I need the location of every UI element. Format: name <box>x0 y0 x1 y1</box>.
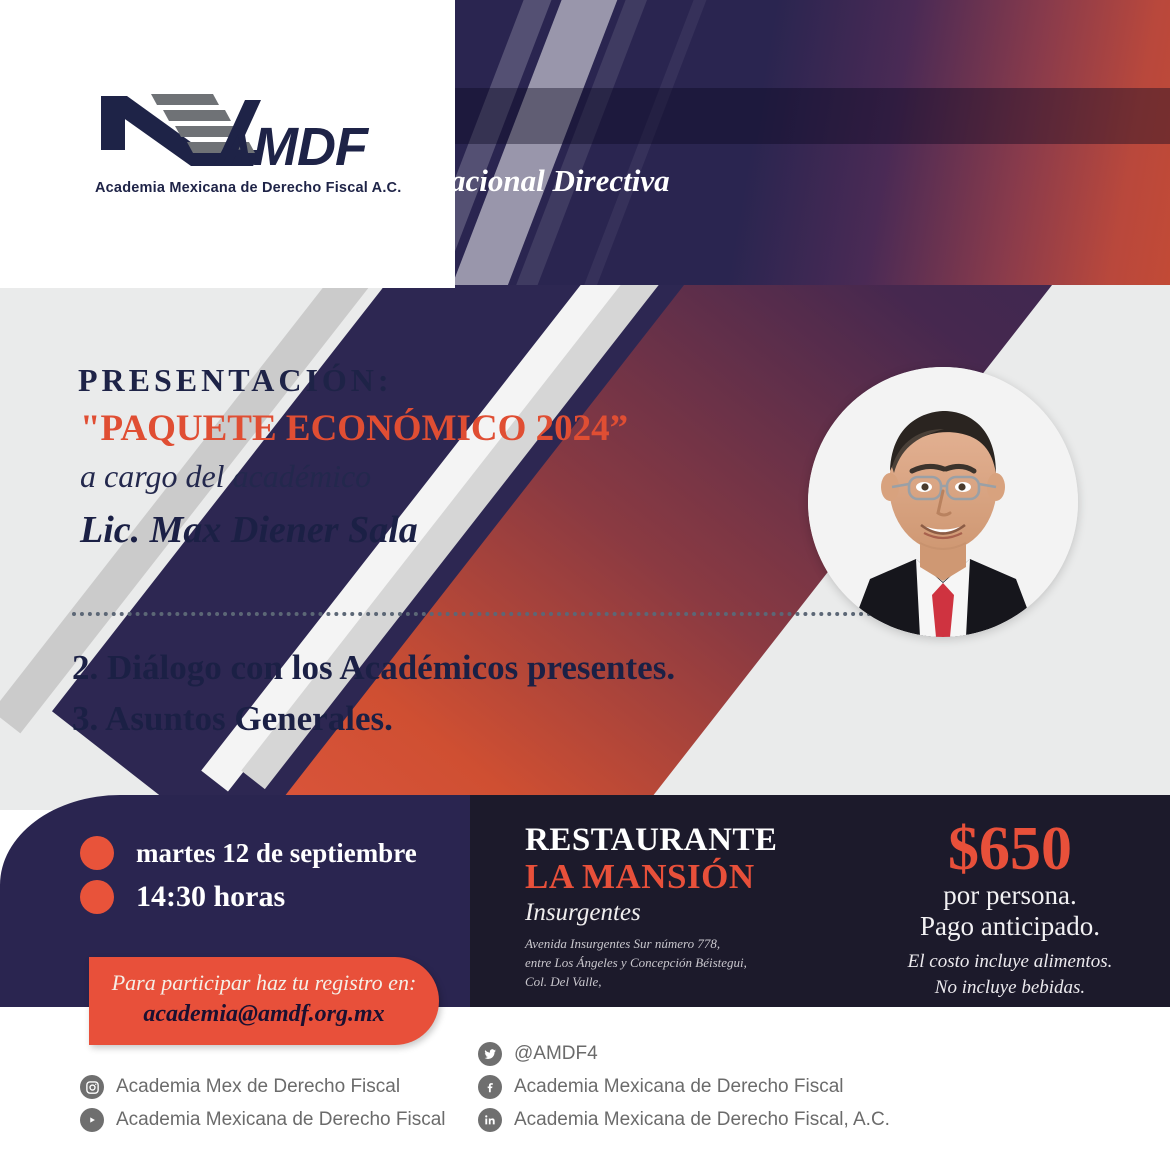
youtube-icon <box>80 1108 104 1132</box>
social-links-left: Academia Mex de Derecho Fiscal Academia … <box>80 1075 446 1141</box>
social-link-linkedin[interactable]: Academia Mexicana de Derecho Fiscal, A.C… <box>478 1108 890 1132</box>
social-link-instagram[interactable]: Academia Mex de Derecho Fiscal <box>80 1075 446 1099</box>
amdf-logo: AMDF Academia Mexicana de Derecho Fiscal… <box>95 88 375 196</box>
section-divider <box>72 612 872 616</box>
price-block: $650 por persona. Pago anticipado. El co… <box>860 818 1160 1000</box>
speaker-name: Lic. Max Diener Sala <box>80 508 418 552</box>
amdf-logo-caption: Academia Mexicana de Derecho Fiscal A.C. <box>95 180 375 196</box>
speaker-portrait <box>808 367 1078 637</box>
price-payment-terms: Pago anticipado. <box>860 911 1160 942</box>
venue-branch: Insurgentes <box>525 899 777 927</box>
venue-type: RESTAURANTE <box>525 822 777 859</box>
event-flyer: SESIÓN TÉCNICA Organizada por la Junta N… <box>0 0 1170 1171</box>
event-date: martes 12 de septiembre <box>136 838 417 869</box>
presentation-label: PRESENTACIÓN: <box>78 362 393 399</box>
registration-email[interactable]: academia@amdf.org.mx <box>89 1001 439 1028</box>
price-note-excludes: No incluye bebidas. <box>860 975 1160 1001</box>
presentation-topic: "PAQUETE ECONÓMICO 2024” <box>80 407 628 450</box>
venue-address-line: Avenida Insurgentes Sur número 778, <box>525 935 777 954</box>
social-handle: Academia Mex de Derecho Fiscal <box>116 1076 400 1098</box>
speaker-photo-illustration <box>808 367 1078 637</box>
event-date-row: martes 12 de septiembre <box>80 836 417 870</box>
agenda-list: 2. Diálogo con los Académicos presentes.… <box>72 648 675 750</box>
instagram-icon <box>80 1075 104 1099</box>
venue-address-line: Col. Del Valle, <box>525 973 777 992</box>
social-handle: @AMDF4 <box>514 1043 598 1065</box>
social-handle: Academia Mexicana de Derecho Fiscal <box>116 1109 446 1131</box>
social-links-right: @AMDF4 Academia Mexicana de Derecho Fisc… <box>478 1042 890 1141</box>
venue-block: RESTAURANTE LA MANSIÓN Insurgentes Aveni… <box>525 822 777 992</box>
venue-name: LA MANSIÓN <box>525 857 777 897</box>
header-banner <box>455 0 1170 285</box>
agenda-item: 2. Diálogo con los Académicos presentes. <box>72 648 675 688</box>
header-title-bar <box>455 88 1170 144</box>
venue-address: Avenida Insurgentes Sur número 778, entr… <box>525 935 777 992</box>
social-link-twitter[interactable]: @AMDF4 <box>478 1042 890 1066</box>
social-handle: Academia Mexicana de Derecho Fiscal, A.C… <box>514 1109 890 1131</box>
price-note-includes: El costo incluye alimentos. <box>860 949 1160 975</box>
bullet-icon <box>80 880 114 914</box>
social-handle: Academia Mexicana de Derecho Fiscal <box>514 1076 844 1098</box>
agenda-item: 3. Asuntos Generales. <box>72 699 675 739</box>
amdf-wordmark: AMDF <box>215 116 367 178</box>
social-link-youtube[interactable]: Academia Mexicana de Derecho Fiscal <box>80 1108 446 1132</box>
twitter-icon <box>478 1042 502 1066</box>
amdf-logo-mark: AMDF <box>95 88 367 176</box>
price-amount: $650 <box>860 818 1160 880</box>
event-time: 14:30 horas <box>136 880 285 914</box>
speaker-prefix: a cargo del académico <box>80 458 371 495</box>
logo-panel: AMDF Academia Mexicana de Derecho Fiscal… <box>0 0 455 288</box>
price-per-person: por persona. <box>860 880 1160 911</box>
registration-cta[interactable]: Para participar haz tu registro en: acad… <box>89 957 439 1045</box>
linkedin-icon <box>478 1108 502 1132</box>
facebook-icon <box>478 1075 502 1099</box>
event-time-row: 14:30 horas <box>80 880 285 914</box>
social-link-facebook[interactable]: Academia Mexicana de Derecho Fiscal <box>478 1075 890 1099</box>
registration-instruction: Para participar haz tu registro en: <box>89 970 439 996</box>
venue-address-line: entre Los Ángeles y Concepción Béistegui… <box>525 954 777 973</box>
bullet-icon <box>80 836 114 870</box>
